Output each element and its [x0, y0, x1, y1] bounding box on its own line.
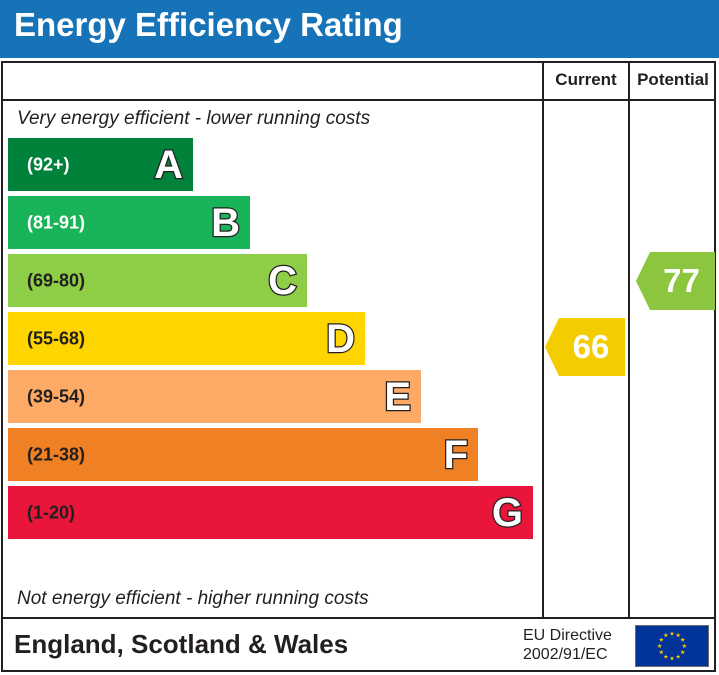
band-f: (21-38)F — [8, 428, 478, 481]
band-letter: C — [268, 261, 297, 301]
band-letter: F — [444, 435, 468, 475]
band-letter: B — [211, 203, 240, 243]
band-c: (69-80)C — [8, 254, 307, 307]
footer-region-label: England, Scotland & Wales — [14, 629, 348, 660]
band-a: (92+)A — [8, 138, 193, 191]
marker-potential-rating: 77 — [636, 252, 715, 310]
eu-directive-line2: 2002/91/EC — [523, 645, 612, 664]
eu-directive-label: EU Directive 2002/91/EC — [523, 626, 612, 664]
marker-current-rating: 66 — [545, 318, 625, 376]
band-e: (39-54)E — [8, 370, 421, 423]
band-range-label: (69-80) — [27, 270, 85, 291]
band-g: (1-20)G — [8, 486, 533, 539]
band-range-label: (1-20) — [27, 502, 75, 523]
band-letter: A — [154, 145, 183, 185]
eu-flag-icon — [635, 625, 709, 667]
epc-certificate: Energy Efficiency Rating Current Potenti… — [0, 0, 719, 675]
band-letter: D — [326, 319, 355, 359]
band-b: (81-91)B — [8, 196, 250, 249]
band-d: (55-68)D — [8, 312, 365, 365]
band-range-label: (39-54) — [27, 386, 85, 407]
band-range-label: (92+) — [27, 154, 70, 175]
band-letter: E — [384, 377, 411, 417]
band-letter: G — [492, 493, 523, 533]
band-range-label: (21-38) — [27, 444, 85, 465]
band-range-label: (55-68) — [27, 328, 85, 349]
footer: England, Scotland & Wales EU Directive 2… — [1, 619, 716, 672]
band-range-label: (81-91) — [27, 212, 85, 233]
eu-directive-line1: EU Directive — [523, 626, 612, 645]
